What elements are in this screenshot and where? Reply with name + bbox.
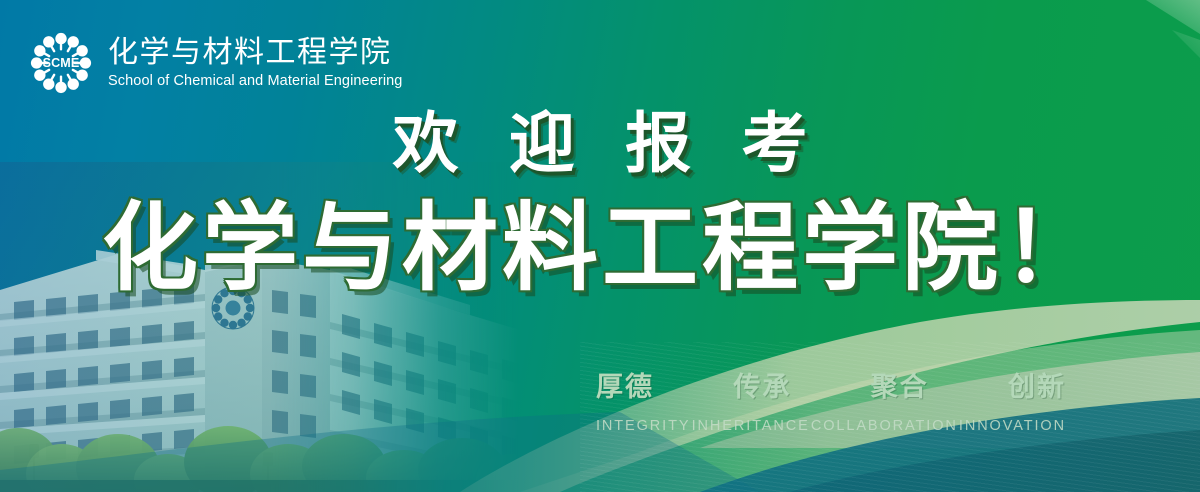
motto-en-row: INTEGRITY INHERITANCE COLLABORATION INNO…	[596, 419, 1066, 434]
motto-cn-4: 创新	[1008, 374, 1066, 401]
motto-cn-1: 厚德	[596, 374, 654, 401]
school-lockup: SCME 化学与材料工程学院 School of Chemical and Ma…	[28, 30, 402, 96]
motto-en-4: INNOVATION	[959, 419, 1066, 434]
campus-building-photo	[0, 162, 520, 492]
motto-block: 厚德 传承 聚合 创新 INTEGRITY INHERITANCE COLLAB…	[596, 374, 1066, 434]
scme-logo-text: SCME	[43, 56, 80, 70]
org-name-cn: 化学与材料工程学院	[108, 36, 402, 71]
motto-cn-2: 传承	[733, 374, 791, 401]
motto-cn-3: 聚合	[871, 374, 929, 401]
scme-logo-icon: SCME	[28, 30, 94, 96]
admissions-banner: SCME 化学与材料工程学院 School of Chemical and Ma…	[0, 0, 1200, 492]
motto-cn-row: 厚德 传承 聚合 创新	[596, 374, 1066, 401]
motto-en-2: INHERITANCE	[692, 419, 810, 434]
motto-en-1: INTEGRITY	[596, 419, 690, 434]
hatch-texture	[580, 342, 1200, 492]
motto-en-3: COLLABORATION	[811, 419, 958, 434]
org-name-en: School of Chemical and Material Engineer…	[108, 73, 402, 90]
